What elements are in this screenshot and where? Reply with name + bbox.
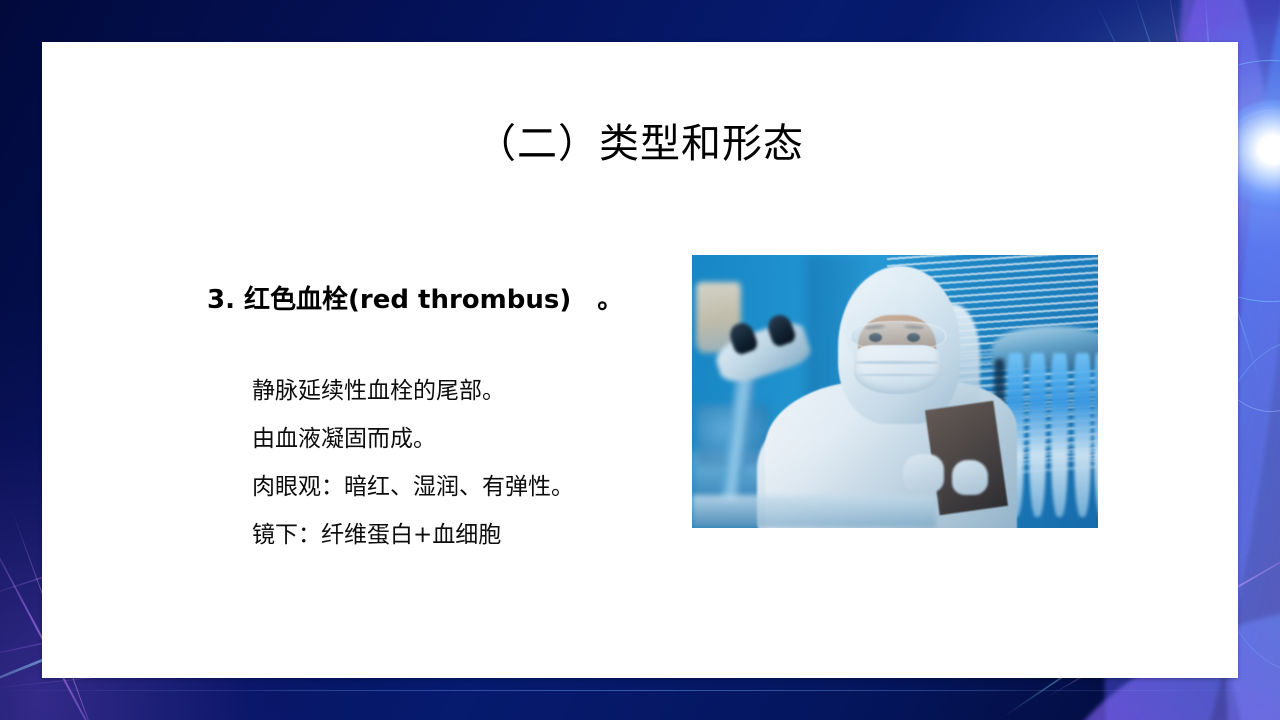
body-line: 由血液凝固而成。 (252, 415, 702, 463)
body-line: 静脉延续性血栓的尾部。 (252, 367, 702, 415)
section-heading: 3. 红色血栓(red thrombus)。 (207, 279, 623, 316)
photo-content (692, 255, 1098, 528)
heading-term-en: (red thrombus) (348, 285, 571, 315)
photo-color-tint (692, 255, 1098, 528)
slide-title: （二）类型和形态 (42, 120, 1238, 168)
body-line: 肉眼观：暗红、湿润、有弹性。 (252, 463, 702, 511)
presentation-slide: （二）类型和形态 3. 红色血栓(red thrombus)。 静脉延续性血栓的… (0, 0, 1280, 720)
slide-content-card: （二）类型和形态 3. 红色血栓(red thrombus)。 静脉延续性血栓的… (42, 42, 1238, 678)
heading-trailing-mark: 。 (597, 285, 623, 315)
heading-number: 3. (207, 285, 235, 315)
body-line: 镜下：纤维蛋白+血细胞 (252, 511, 702, 559)
laboratory-scientist-photo (692, 255, 1098, 528)
body-text-block: 静脉延续性血栓的尾部。 由血液凝固而成。 肉眼观：暗红、湿润、有弹性。 镜下：纤… (252, 367, 702, 559)
heading-term-cn: 红色血栓 (244, 285, 348, 315)
